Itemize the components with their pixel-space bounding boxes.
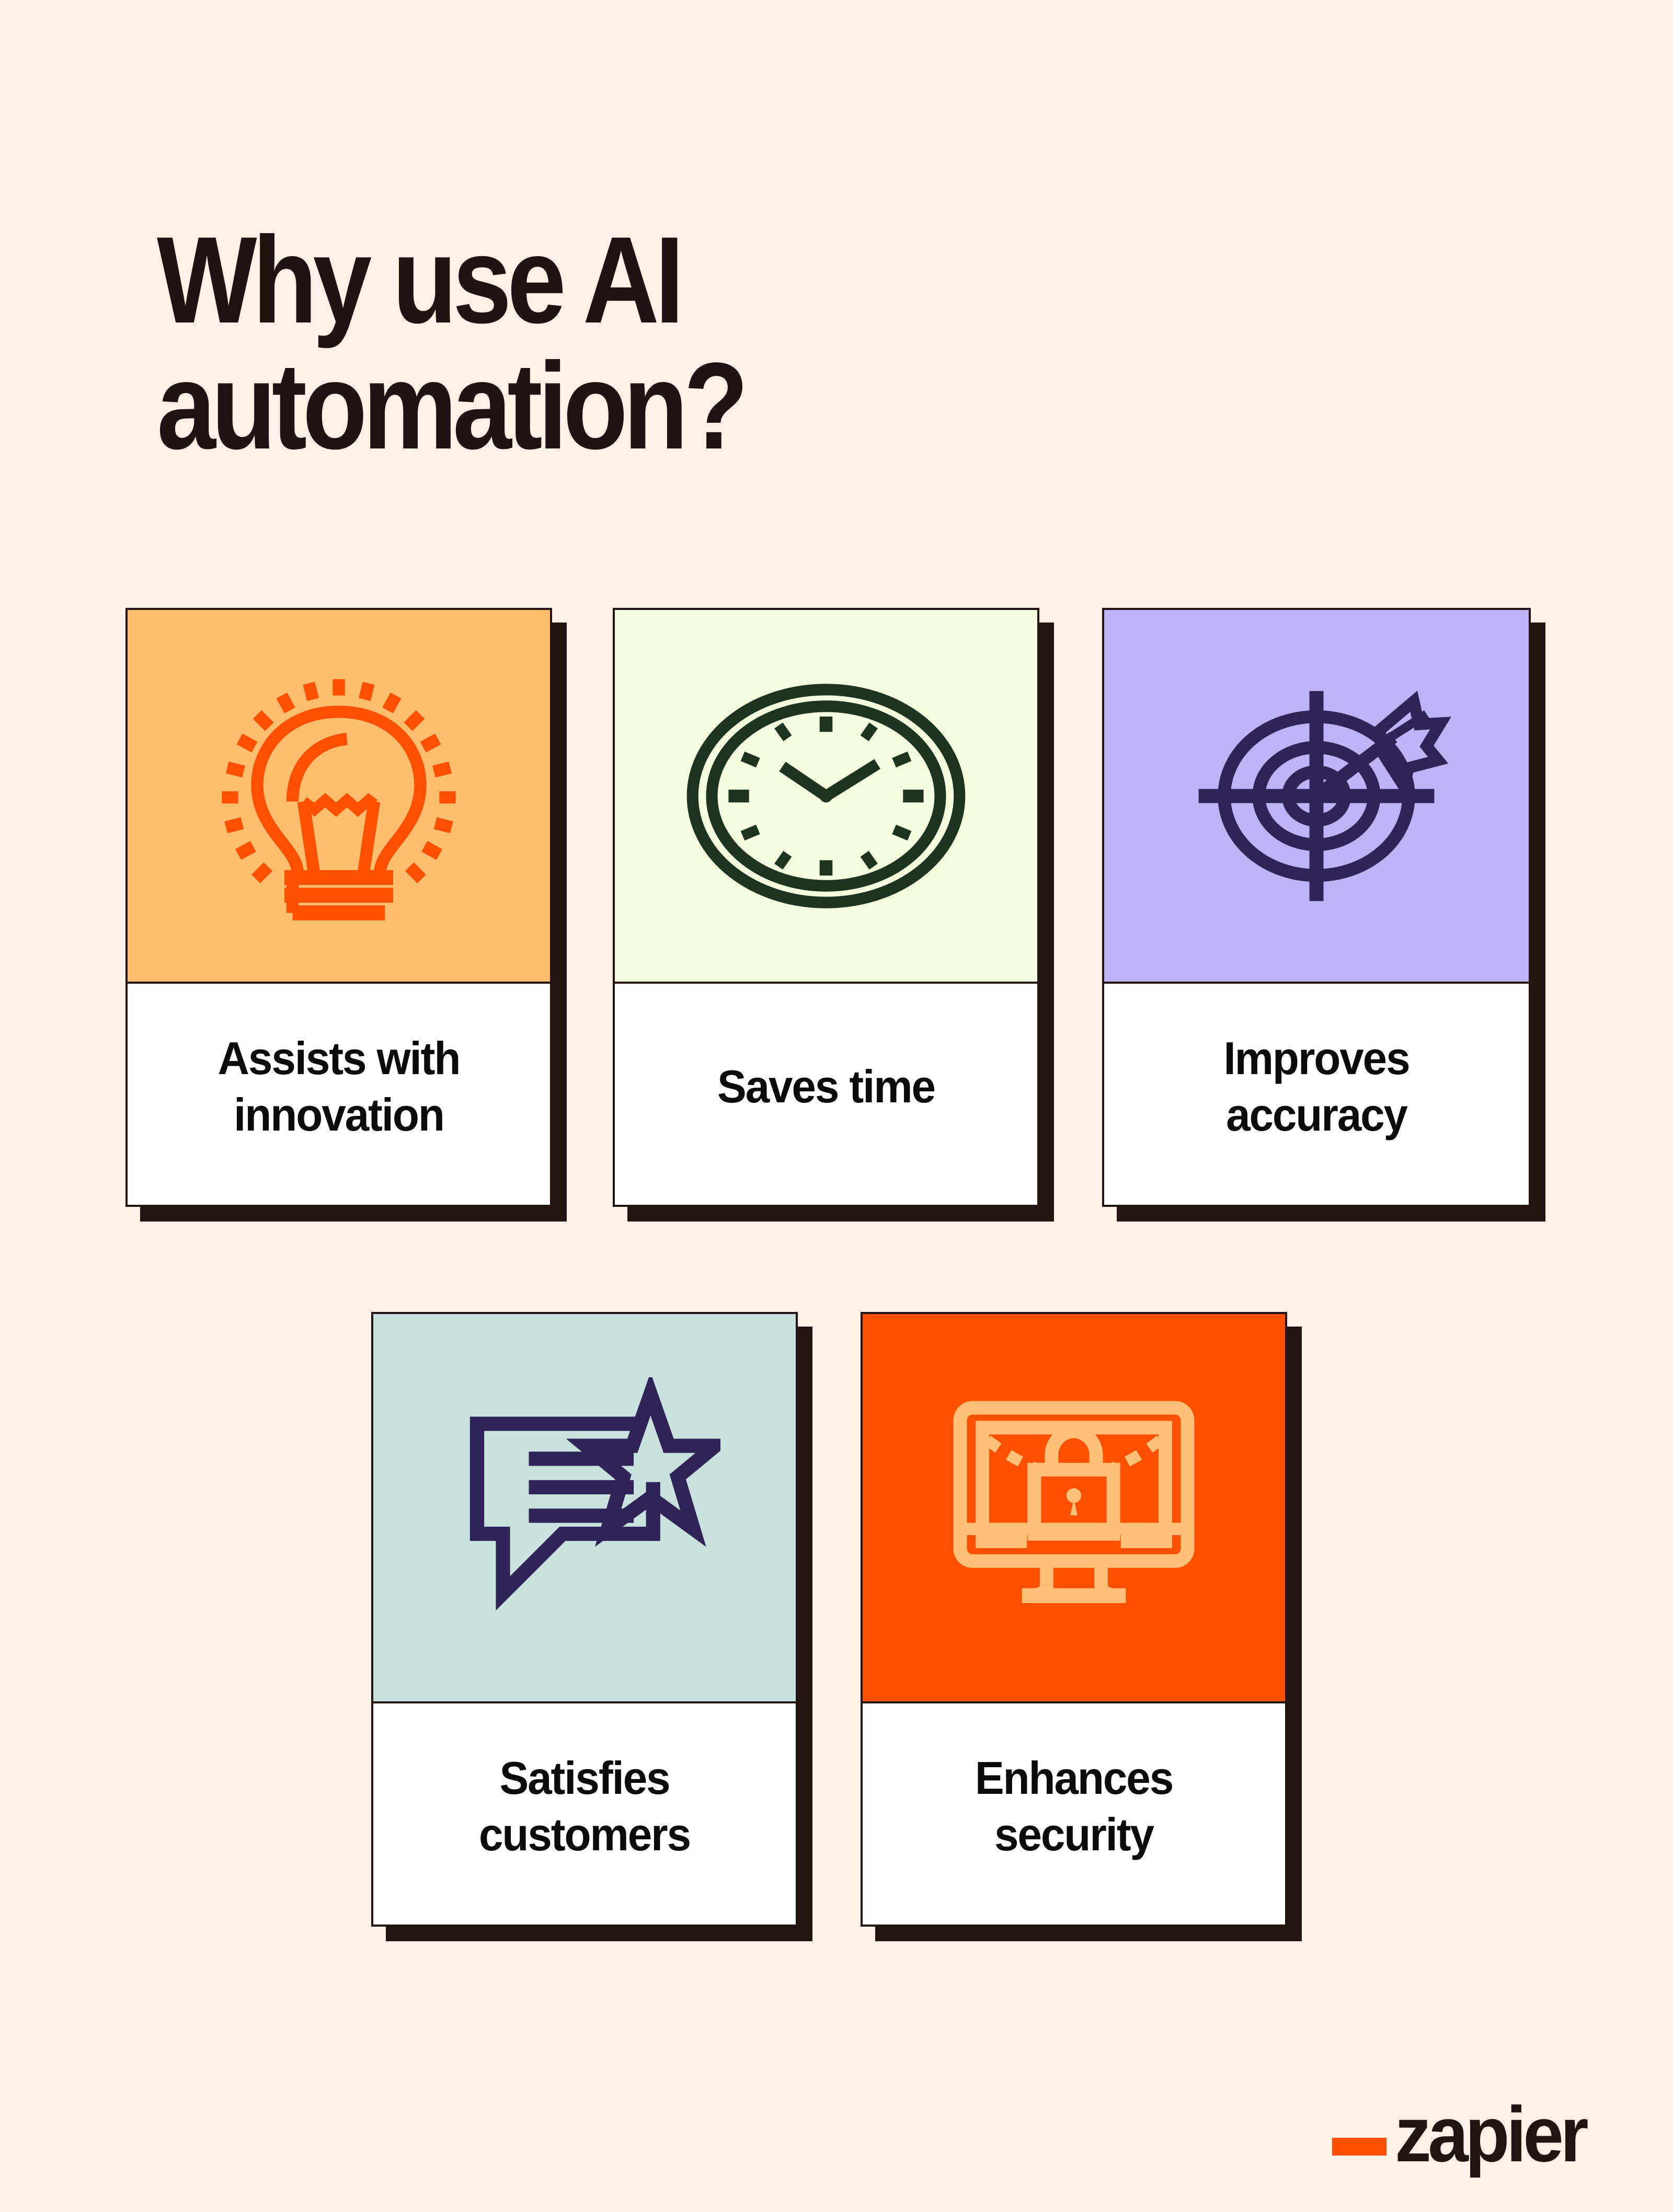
card-body-security: Enhances security [863, 1703, 1285, 1925]
card-grid: Assists with innovation [0, 0, 1673, 2212]
monitor-lock-icon [938, 1390, 1210, 1626]
card-body-customers: Satisfies customers [373, 1703, 796, 1925]
infographic-poster: Why use AI automation? [0, 0, 1673, 2212]
card-label-innovation: Assists with innovation [158, 1030, 520, 1143]
card-label-accuracy: Improves accuracy [1135, 1030, 1498, 1143]
chat-star-icon [449, 1377, 720, 1639]
card-body-accuracy: Improves accuracy [1104, 984, 1529, 1205]
card-assists-with-innovation[interactable]: Assists with innovation [125, 608, 552, 1207]
card-saves-time[interactable]: Saves time [613, 608, 1039, 1207]
target-arrow-icon [1175, 668, 1458, 924]
zapier-logo[interactable]: zapier [1332, 2101, 1600, 2167]
card-satisfies-customers[interactable]: Satisfies customers [371, 1312, 798, 1927]
card-body-innovation: Assists with innovation [128, 984, 550, 1205]
card-improves-accuracy[interactable]: Improves accuracy [1102, 608, 1531, 1207]
underscore-mark-icon [1332, 2138, 1386, 2156]
card-label-security: Enhances security [893, 1750, 1255, 1862]
zapier-wordmark: zapier [1395, 2101, 1585, 2167]
card-media-accuracy [1104, 610, 1529, 984]
lightbulb-icon [203, 660, 475, 932]
clock-icon [685, 673, 967, 919]
card-media-security [863, 1314, 1285, 1703]
card-body-time: Saves time [615, 984, 1037, 1205]
card-media-customers [373, 1314, 796, 1703]
card-media-innovation [128, 610, 550, 984]
card-label-customers: Satisfies customers [404, 1750, 765, 1862]
card-label-time: Saves time [717, 1058, 935, 1114]
card-enhances-security[interactable]: Enhances security [861, 1312, 1287, 1927]
card-media-time [615, 610, 1037, 984]
